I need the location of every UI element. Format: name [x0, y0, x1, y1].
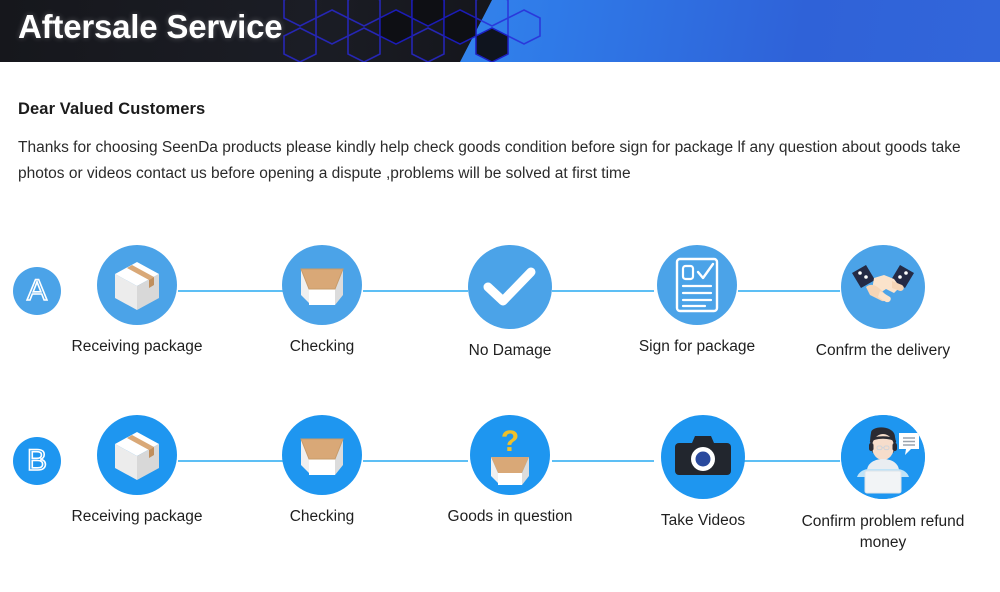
connector-a-1 — [178, 290, 283, 292]
badge-a: A — [13, 267, 61, 315]
step-a-2[interactable]: Checking — [247, 245, 397, 356]
intro-heading: Dear Valued Customers — [18, 100, 978, 119]
connector-a-4 — [738, 290, 840, 292]
connector-b-2 — [363, 460, 468, 462]
step-b-1-label: Receiving package — [72, 507, 203, 526]
header-banner: Aftersale Service — [0, 0, 1000, 62]
step-a-5[interactable]: Confrm the delivery — [808, 245, 958, 360]
step-b-5-label: Confirm problem refund money — [798, 511, 968, 553]
step-b-1[interactable]: Receiving package — [62, 415, 212, 526]
handshake-icon — [841, 245, 925, 329]
question-box-icon: ? — [470, 415, 550, 495]
step-b-5[interactable]: Confirm problem refund money — [808, 415, 958, 553]
svg-text:?: ? — [501, 425, 519, 458]
connector-b-3 — [552, 460, 654, 462]
step-a-3-label: No Damage — [469, 341, 552, 360]
flow-row-b: B Receiving package C — [0, 415, 1000, 565]
closed-box-icon — [97, 245, 177, 325]
step-b-2-label: Checking — [290, 507, 355, 526]
step-a-2-label: Checking — [290, 337, 355, 356]
badge-a-letter: A — [27, 276, 47, 306]
badge-b-letter: B — [27, 446, 47, 476]
intro-block: Dear Valued Customers Thanks for choosin… — [18, 100, 978, 187]
step-a-1[interactable]: Receiving package — [62, 245, 212, 356]
step-b-4-label: Take Videos — [661, 511, 745, 530]
step-a-3[interactable]: No Damage — [435, 245, 585, 360]
open-box-icon — [282, 245, 362, 325]
step-a-4-label: Sign for package — [639, 337, 755, 356]
connector-b-1 — [178, 460, 283, 462]
connector-b-4 — [742, 460, 840, 462]
step-b-3[interactable]: ? Goods in question — [435, 415, 585, 526]
page-title: Aftersale Service — [18, 8, 282, 46]
intro-body-text: Thanks for choosing SeenDa products plea… — [18, 135, 970, 187]
step-b-2[interactable]: Checking — [247, 415, 397, 526]
flow-row-a: A Receiving package C — [0, 245, 1000, 395]
support-agent-icon — [841, 415, 925, 499]
hexagon-pattern-icon — [270, 0, 570, 62]
open-box-icon — [282, 415, 362, 495]
step-b-4[interactable]: Take Videos — [628, 415, 778, 530]
document-check-icon — [657, 245, 737, 325]
camera-icon — [661, 415, 745, 499]
step-b-3-label: Goods in question — [448, 507, 573, 526]
step-a-1-label: Receiving package — [72, 337, 203, 356]
checkmark-icon — [468, 245, 552, 329]
connector-a-3 — [552, 290, 654, 292]
closed-box-icon — [97, 415, 177, 495]
badge-b: B — [13, 437, 61, 485]
connector-a-2 — [363, 290, 468, 292]
step-a-5-label: Confrm the delivery — [816, 341, 950, 360]
step-a-4[interactable]: Sign for package — [622, 245, 772, 356]
